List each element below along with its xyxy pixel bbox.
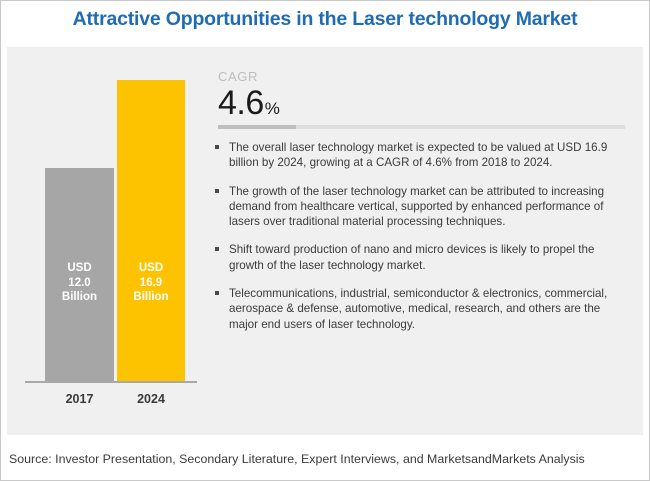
list-item: The overall laser technology market is e…: [214, 140, 628, 171]
bar-2017[interactable]: USD 12.0 Billion: [45, 168, 114, 381]
list-item: The growth of the laser technology marke…: [214, 184, 628, 230]
source-note: Source: Investor Presentation, Secondary…: [9, 452, 585, 466]
bullet-list: The overall laser technology market is e…: [214, 140, 628, 332]
section-divider: [218, 125, 625, 129]
list-item-text: The growth of the laser technology marke…: [229, 185, 604, 229]
bar-2017-label: USD 12.0 Billion: [45, 261, 114, 305]
cagr-percent-sign: %: [265, 100, 280, 118]
x-axis-line: [25, 381, 197, 383]
bar-2024-label-line2: 16.9: [140, 277, 162, 289]
bar-chart: USD 12.0 Billion USD 16.9 Billion 2017 2…: [7, 47, 207, 435]
cagr-value: 4.6: [218, 85, 264, 121]
x-tick-2024: 2024: [117, 392, 185, 406]
cagr-block: CAGR 4.6 %: [218, 70, 628, 121]
bar-2024-label: USD 16.9 Billion: [117, 261, 185, 305]
bar-2024[interactable]: USD 16.9 Billion: [117, 80, 185, 381]
bar-2024-label-line1: USD: [139, 262, 163, 274]
bar-2024-label-line3: Billion: [133, 291, 168, 303]
bar-2017-label-line1: USD: [67, 262, 91, 274]
bullet-square-icon: [215, 247, 219, 251]
bar-2017-label-line3: Billion: [62, 291, 97, 303]
bullet-square-icon: [215, 189, 219, 193]
cagr-value-row: 4.6 %: [218, 85, 628, 121]
page-title: Attractive Opportunities in the Laser te…: [0, 8, 650, 31]
x-tick-2017: 2017: [45, 392, 114, 406]
list-item: Shift toward production of nano and micr…: [214, 242, 628, 273]
list-item-text: Telecommunications, industrial, semicond…: [229, 287, 607, 331]
list-item: Telecommunications, industrial, semicond…: [214, 286, 628, 332]
list-item-text: Shift toward production of nano and micr…: [229, 243, 594, 271]
cagr-label: CAGR: [218, 70, 628, 84]
bar-2017-label-line2: 12.0: [68, 277, 90, 289]
bullet-square-icon: [215, 291, 219, 295]
list-item-text: The overall laser technology market is e…: [229, 141, 607, 169]
infographic-page: Attractive Opportunities in the Laser te…: [0, 0, 650, 481]
section-divider-accent: [218, 125, 296, 129]
bullet-square-icon: [215, 145, 219, 149]
